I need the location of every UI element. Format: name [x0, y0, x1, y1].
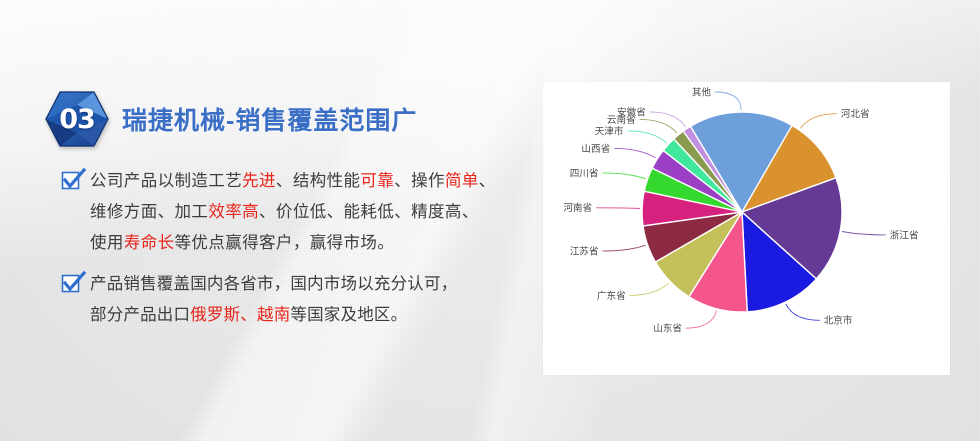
highlight-text: 简单: [445, 172, 479, 190]
list-item: 产品销售覆盖国内各省市，国内市场以充分认可，部分产品出口俄罗斯、越南等国家及地区…: [62, 269, 532, 331]
leader-line-云南省: [640, 119, 677, 133]
highlight-text: 俄罗斯、越南: [190, 306, 290, 324]
leader-line-其他: [715, 92, 741, 110]
highlight-text: 可靠: [360, 172, 394, 190]
pie-label-四川省: 四川省: [570, 167, 599, 179]
leader-line-安徽省: [650, 112, 686, 127]
leader-line-广东省: [630, 283, 669, 296]
leader-line-浙江省: [842, 232, 886, 235]
leader-line-河北省: [801, 114, 837, 129]
feature-list: 公司产品以制造工艺先进、结构性能可靠、操作简单、维修方面、加工效率高、价位低、能…: [62, 166, 532, 341]
leader-line-山西省: [614, 148, 655, 158]
pie-label-其他: 其他: [692, 86, 712, 98]
page-title: 瑞捷机械-销售覆盖范围广: [122, 101, 417, 137]
list-item-text: 产品销售覆盖国内各省市，国内市场以充分认可，部分产品出口俄罗斯、越南等国家及地区…: [90, 269, 457, 331]
highlight-text: 先进: [242, 172, 276, 190]
pie-label-天津市: 天津市: [595, 125, 624, 137]
chart-panel: 河北省浙江省北京市山东省广东省江苏省河南省四川省山西省天津市云南省安徽省其他: [543, 82, 950, 375]
checkbox-checked-icon: [62, 274, 81, 293]
list-item: 公司产品以制造工艺先进、结构性能可靠、操作简单、维修方面、加工效率高、价位低、能…: [62, 166, 532, 259]
pie-label-安徽省: 安徽省: [617, 106, 646, 118]
pie-label-江苏省: 江苏省: [570, 246, 599, 258]
pie-label-北京市: 北京市: [824, 315, 853, 327]
pie-label-山西省: 山西省: [581, 143, 610, 155]
promo-banner: 03 瑞捷机械-销售覆盖范围广 公司产品以制造工艺先进、结构性能可靠、操作简单、…: [0, 0, 980, 441]
section-number-label: 03: [44, 90, 110, 148]
section-number-badge: 03: [44, 90, 110, 148]
leader-line-江苏省: [603, 245, 646, 251]
pie-label-广东省: 广东省: [597, 290, 626, 302]
leader-line-天津市: [628, 131, 667, 143]
leader-line-北京市: [786, 304, 820, 320]
pie-label-浙江省: 浙江省: [890, 229, 919, 241]
pie-label-河南省: 河南省: [563, 202, 592, 214]
checkbox-checked-icon: [62, 171, 81, 190]
pie-label-山东省: 山东省: [653, 323, 682, 335]
leader-line-四川省: [603, 173, 646, 179]
list-item-text: 公司产品以制造工艺先进、结构性能可靠、操作简单、维修方面、加工效率高、价位低、能…: [90, 166, 496, 259]
leader-line-河南省: [596, 208, 640, 209]
highlight-text: 效率高: [208, 203, 259, 221]
pie-label-河北省: 河北省: [841, 108, 870, 120]
section-heading: 03 瑞捷机械-销售覆盖范围广: [44, 90, 417, 148]
pie-chart-svg: 河北省浙江省北京市山东省广东省江苏省河南省四川省山西省天津市云南省安徽省其他: [543, 82, 950, 375]
leader-line-山东省: [686, 311, 717, 328]
highlight-text: 寿命长: [124, 234, 175, 252]
sales-coverage-pie-chart: 河北省浙江省北京市山东省广东省江苏省河南省四川省山西省天津市云南省安徽省其他: [543, 82, 950, 375]
